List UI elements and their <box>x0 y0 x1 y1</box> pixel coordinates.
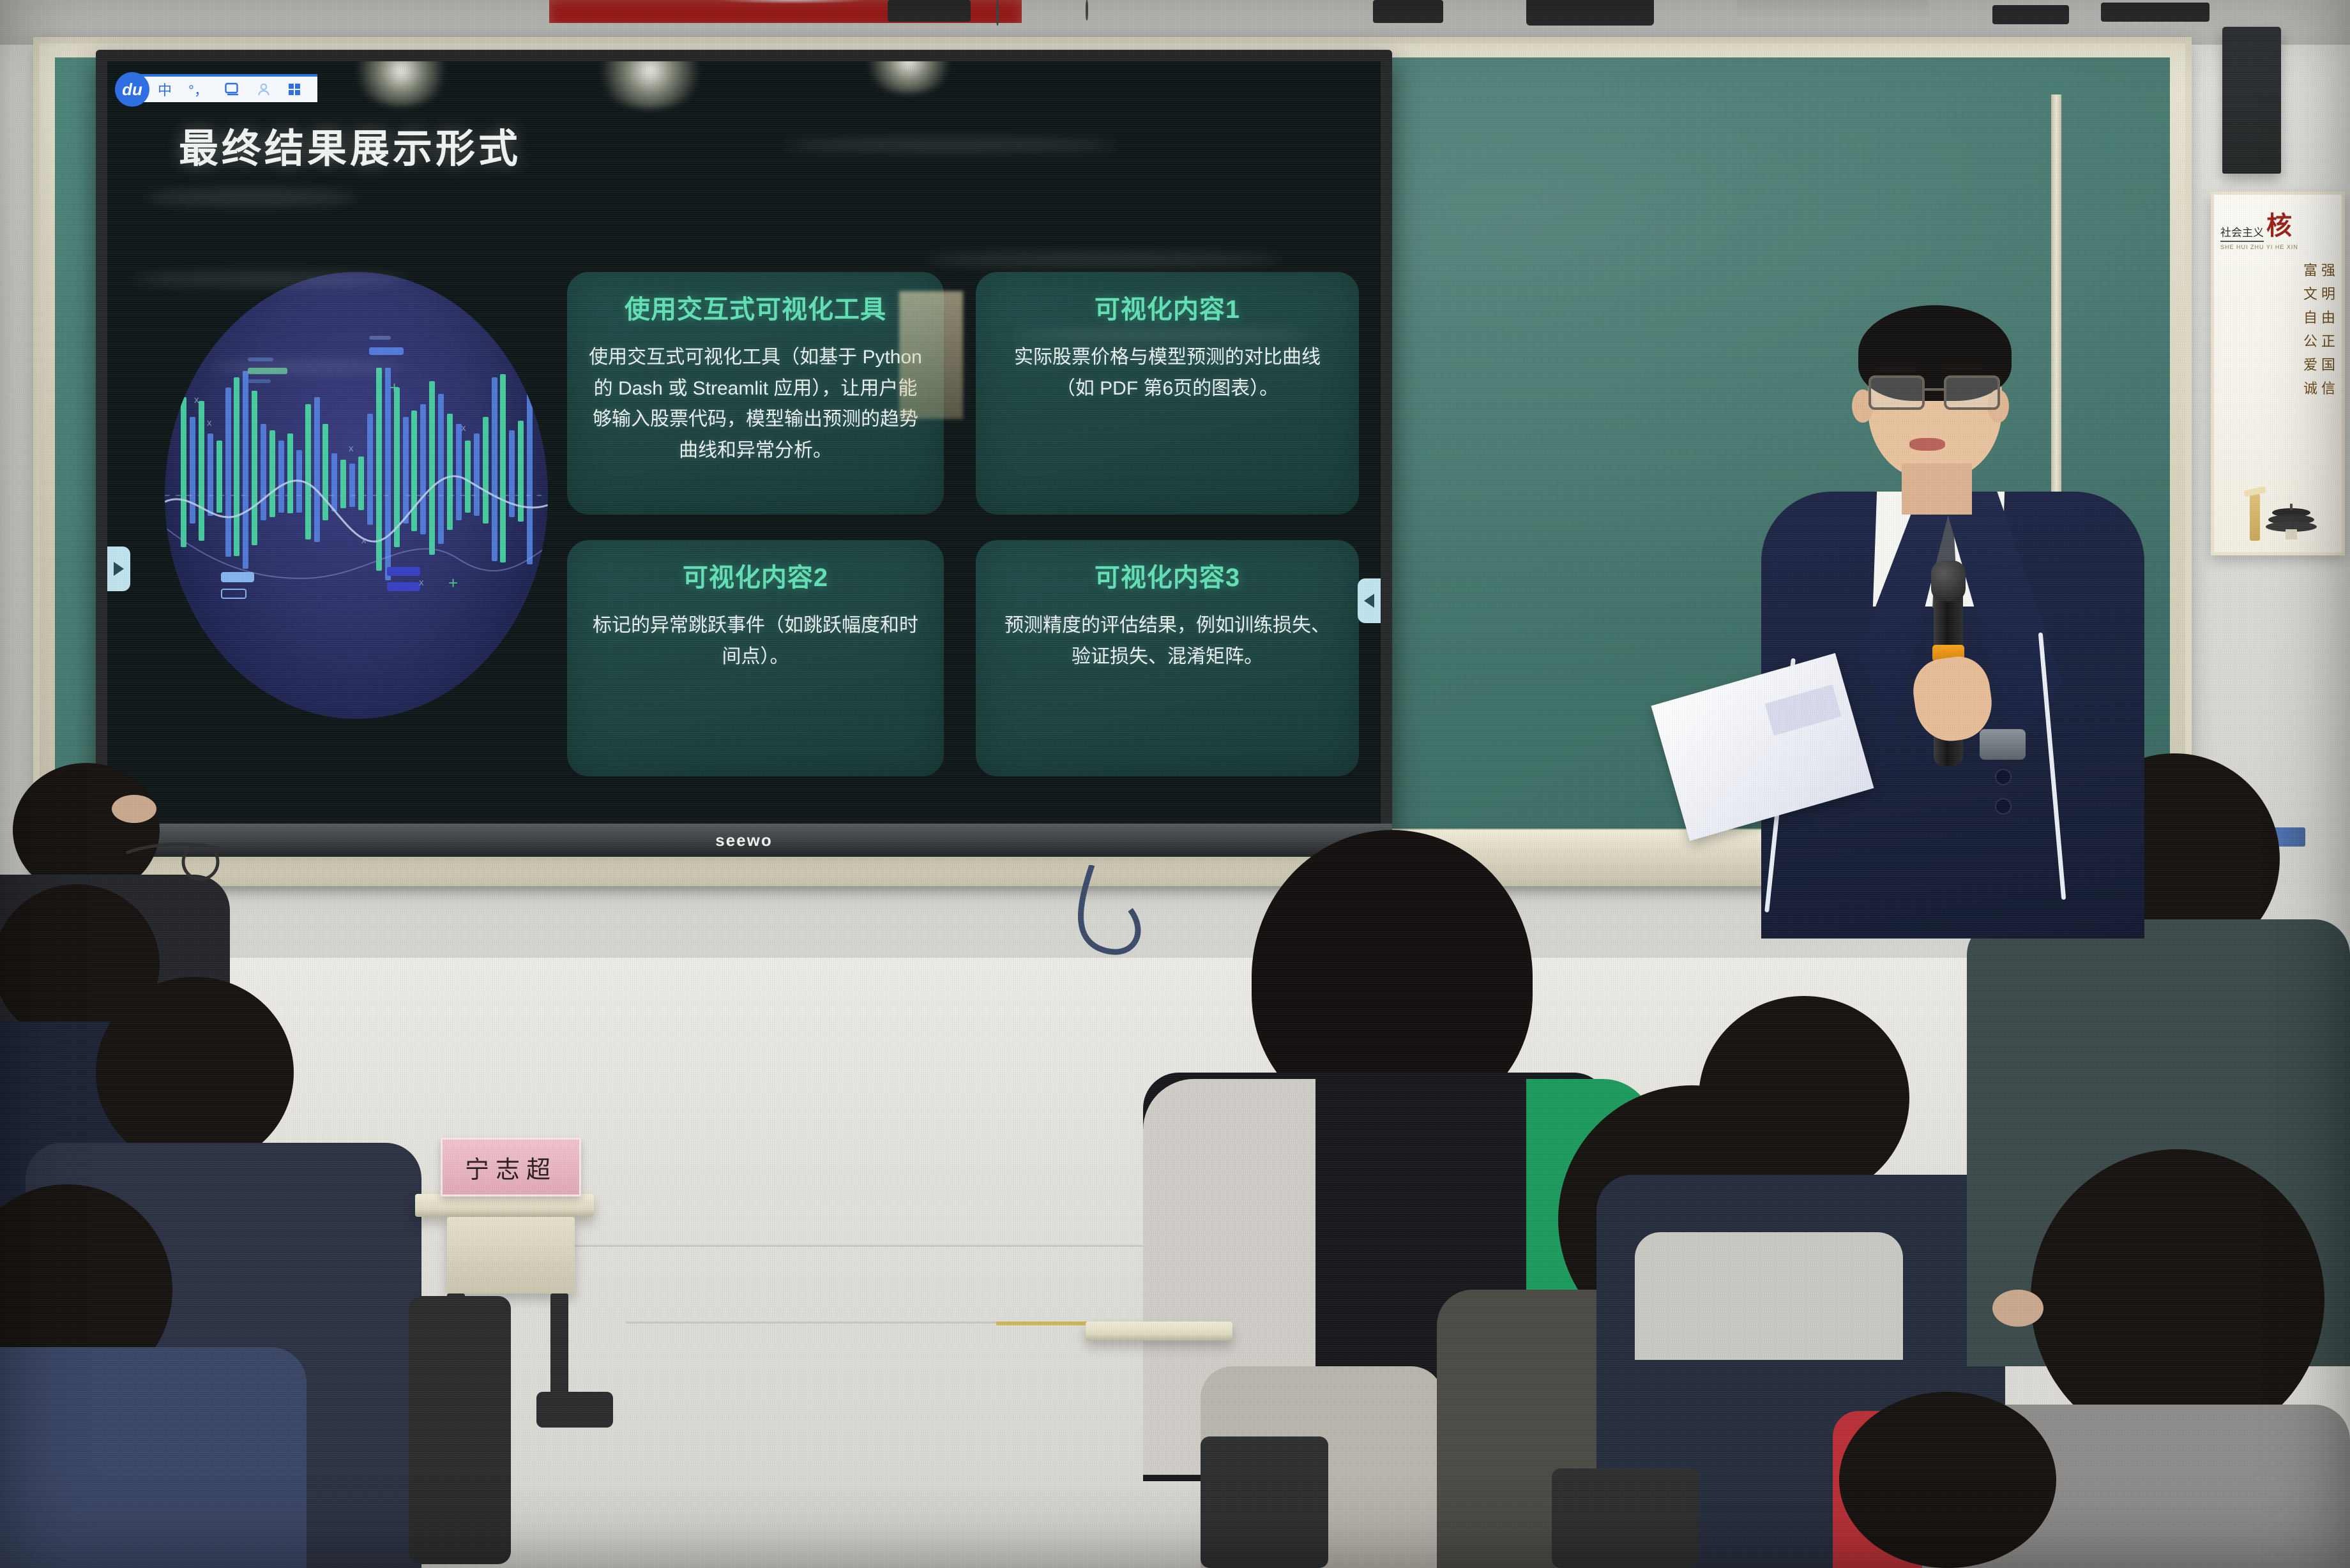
poster-glare-reflection <box>899 291 963 419</box>
card-viz-content-3[interactable]: 可视化内容3 预测精度的评估结果，例如训练损失、验证损失、混淆矩阵。 <box>976 540 1359 776</box>
classroom-photo-scene: 社会主义 核 SHE HUI ZHU YI HE XIN 强明由正国信 富文自公… <box>0 0 2350 1568</box>
presenter-mouth <box>1909 438 1945 451</box>
blazer-button <box>1996 770 2010 784</box>
card-body: 实际股票价格与模型预测的对比曲线（如 PDF 第6页的图表）。 <box>997 342 1337 404</box>
card-body: 预测精度的评估结果，例如训练损失、验证损失、混淆矩阵。 <box>997 610 1337 672</box>
poster-value-char: 明 <box>2321 283 2335 303</box>
card-viz-content-2[interactable]: 可视化内容2 标记的异常跳跃事件（如跳跃幅度和时间点）。 <box>567 540 944 776</box>
slide-card-grid: 使用交互式可视化工具 使用交互式可视化工具（如基于 Python 的 Dash … <box>567 272 1359 776</box>
presenter-wristwatch <box>1980 729 2026 760</box>
chart-marker-x: x <box>194 395 199 405</box>
poster-value-char: 富 <box>2303 259 2317 280</box>
chart-legend-chip <box>369 347 404 355</box>
chart-legend-chip <box>387 582 420 591</box>
chart-legend-chip <box>387 567 420 576</box>
presenter-eyebrow <box>1941 364 1983 370</box>
glasses-bridge <box>1925 388 1944 391</box>
chart-legend-chip <box>221 572 254 582</box>
poster-value-char: 正 <box>2321 330 2335 351</box>
play-triangle-right-icon <box>114 562 124 576</box>
stock-chart-illustration: x x x x x x + + <box>165 272 548 719</box>
audience-head <box>1699 996 1909 1200</box>
play-triangle-left-icon <box>1364 594 1374 608</box>
audience-desk-front <box>447 1217 575 1293</box>
card-heading: 可视化内容1 <box>997 289 1337 326</box>
poster-value-char: 由 <box>2321 306 2335 327</box>
blazer-button <box>1996 799 2010 813</box>
baidu-logo-icon[interactable]: du <box>115 72 149 107</box>
left-drawer-handle[interactable] <box>107 547 130 591</box>
audience-desk <box>415 1194 594 1217</box>
poster-headline: 核 <box>2266 205 2292 242</box>
equipment-cabinet <box>409 1296 511 1564</box>
student-presenter <box>1750 300 2158 939</box>
chart-legend-chip <box>248 379 271 383</box>
card-heading: 可视化内容3 <box>997 557 1337 594</box>
presentation-slide: 最终结果展示形式 <box>107 61 1381 824</box>
ceiling-sensor <box>1373 0 1443 23</box>
baidu-ime-toolbar[interactable]: du 中 °， <box>125 74 317 102</box>
audience-collar <box>1635 1232 1903 1360</box>
right-drawer-handle[interactable] <box>1358 578 1381 623</box>
chart-legend-chip <box>248 368 287 374</box>
slide-title: 最终结果展示形式 <box>179 116 521 174</box>
ceiling-trim <box>1737 0 1929 17</box>
card-body: 使用交互式可视化工具（如基于 Python 的 Dash 或 Streamlit… <box>589 342 922 466</box>
glasses-lens-right <box>1944 375 2000 410</box>
ceiling-router <box>1526 0 1654 26</box>
chart-marker-x: x <box>349 443 354 454</box>
poster-illustration <box>2222 467 2334 543</box>
chart-marker-x: x <box>361 535 367 546</box>
keyboard-icon[interactable] <box>216 82 248 96</box>
chart-legend-chip <box>248 358 273 361</box>
chart-marker-x: x <box>207 418 212 428</box>
card-body: 标记的异常跳跃事件（如跳跃幅度和时间点）。 <box>589 610 922 672</box>
poster-value-char: 文 <box>2303 283 2317 303</box>
poster-value-char: 公 <box>2303 330 2317 351</box>
display-bottom-bezel: seewo <box>96 824 1392 857</box>
ceiling-cable-clip <box>888 0 971 22</box>
poster-value-char: 国 <box>2321 354 2335 374</box>
seewo-brand-label: seewo <box>715 831 773 850</box>
punctuation-icon[interactable]: °， <box>180 79 216 100</box>
presenter-glasses <box>1869 375 2004 411</box>
ceiling-cable <box>1086 0 1088 20</box>
apps-grid-icon[interactable] <box>279 82 310 96</box>
ceiling-cable <box>996 0 999 26</box>
user-icon[interactable] <box>248 82 279 96</box>
socialist-core-values-poster: 社会主义 核 SHE HUI ZHU YI HE XIN 强明由正国信 富文自公… <box>2211 192 2345 555</box>
seewo-interactive-display[interactable]: 最终结果展示形式 <box>96 50 1392 835</box>
chart-marker-x: x <box>461 423 466 433</box>
poster-pinyin: SHE HUI ZHU YI HE XIN <box>2220 244 2335 250</box>
chair <box>1201 1436 1328 1568</box>
huabiao-pillar-icon <box>2250 494 2260 541</box>
poster-values-left-column: 富文自公爱诚 <box>2303 259 2317 398</box>
chart-marker-x: x <box>419 577 424 588</box>
ceiling-bracket <box>1992 5 2069 24</box>
audience-head <box>96 977 294 1168</box>
presenter-neck <box>1902 464 1972 515</box>
audience-desk <box>1086 1322 1232 1341</box>
card-heading: 使用交互式可视化工具 <box>589 289 922 326</box>
poster-value-char: 强 <box>2321 259 2335 280</box>
trend-line-overlay <box>165 368 548 642</box>
poster-value-char: 诚 <box>2303 377 2317 398</box>
desk-tray <box>536 1392 613 1428</box>
ceiling-mount <box>2101 3 2210 22</box>
poster-value-char: 爱 <box>2303 354 2317 374</box>
chart-marker-plus: + <box>390 378 399 398</box>
poster-values: 强明由正国信 富文自公爱诚 <box>2220 259 2335 398</box>
poster-values-right-column: 强明由正国信 <box>2321 259 2335 398</box>
presenter-eyebrow <box>1875 366 1917 372</box>
microphone-head-icon <box>1931 561 1966 601</box>
chair <box>1552 1468 1699 1568</box>
card-interactive-viz-tool[interactable]: 使用交互式可视化工具 使用交互式可视化工具（如基于 Python 的 Dash … <box>567 272 944 515</box>
poster-title: 社会主义 核 <box>2220 205 2335 242</box>
chinese-mode-icon[interactable]: 中 <box>149 79 180 100</box>
wall-speaker <box>2222 27 2281 174</box>
audience-ear <box>112 795 156 823</box>
eyeglasses-icon <box>125 840 227 885</box>
temple-of-heaven-icon <box>2264 499 2319 541</box>
nameplate-text: 宁志超 <box>465 1150 557 1185</box>
audience-head <box>1839 1392 2056 1568</box>
poster-subtitle: 社会主义 <box>2220 223 2264 242</box>
glasses-lens-left <box>1869 375 1925 410</box>
poster-value-char: 信 <box>2321 377 2335 398</box>
audience-ear <box>1992 1290 2043 1327</box>
audience-body <box>0 1347 307 1568</box>
chart-legend-chip <box>221 589 246 599</box>
card-heading: 可视化内容2 <box>589 557 922 594</box>
card-viz-content-1[interactable]: 可视化内容1 实际股票价格与模型预测的对比曲线（如 PDF 第6页的图表）。 <box>976 272 1359 515</box>
poster-value-char: 自 <box>2303 306 2317 327</box>
chart-legend-chip <box>369 336 391 340</box>
display-screen[interactable]: 最终结果展示形式 <box>107 61 1381 824</box>
nameplate: 宁志超 <box>441 1138 581 1196</box>
chart-marker-plus: + <box>448 573 458 593</box>
